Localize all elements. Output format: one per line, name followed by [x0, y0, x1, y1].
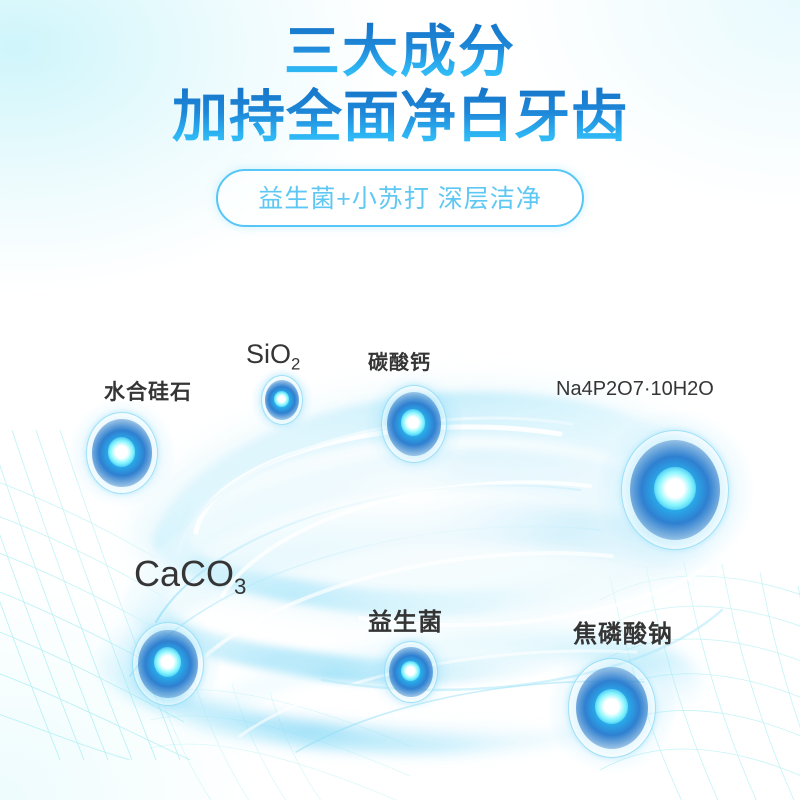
ingredient-orb-silicon-dioxide [261, 375, 303, 425]
orb-body [138, 630, 197, 699]
orb-body [576, 667, 648, 749]
orb-core [654, 467, 695, 510]
orb-core [108, 437, 135, 467]
ingredient-poster: 三大成分 加持全面净白牙齿 益生菌+小苏打 深层洁净 水合硅石 SiO2 碳酸钙… [0, 0, 800, 800]
ingredient-label-sodium-pyrophosphate-formula: Na4P2O7·10H2O [556, 378, 714, 401]
wireframe-mesh-bottom [150, 680, 410, 800]
orb-ring [568, 658, 656, 758]
subtitle-pill-wrapper: 益生菌+小苏打 深层洁净 [0, 169, 800, 227]
orb-ring [261, 375, 303, 425]
ingredient-label-probiotics: 益生菌 [368, 602, 443, 637]
formula-subscript: 2 [291, 354, 300, 373]
ingredient-orb-caco3 [132, 622, 204, 706]
ingredient-label-sodium-pyrophosphate: 焦磷酸钠 [573, 614, 673, 649]
orb-glow [116, 604, 220, 725]
wireframe-mesh-right [600, 560, 800, 800]
ingredient-orb-calcium-carbonate [381, 385, 447, 463]
orb-ring [381, 385, 447, 463]
ingredient-label-silicon-dioxide: SiO2 [246, 339, 300, 374]
subtitle-pill: 益生菌+小苏打 深层洁净 [216, 169, 584, 227]
ingredient-label-hydrated-silica: 水合硅石 [104, 376, 192, 406]
orb-core [401, 409, 425, 436]
formula-main: CaCO [134, 553, 234, 594]
page-title-line-2: 加持全面净白牙齿 [0, 87, 800, 146]
ingredient-orb-sodium-pyrophosphate [568, 658, 656, 758]
orb-core [154, 647, 181, 677]
orb-ring [384, 641, 438, 703]
orb-body [630, 440, 721, 541]
orb-body [265, 380, 299, 420]
orb-ring [86, 412, 158, 494]
orb-core [595, 689, 628, 724]
poster-header: 三大成分 加持全面净白牙齿 益生菌+小苏打 深层洁净 [0, 0, 800, 227]
formula-subscript: 3 [234, 574, 246, 599]
ingredient-orb-probiotics [384, 641, 438, 703]
orb-core [401, 661, 419, 681]
orb-glow [252, 364, 312, 436]
orb-body [92, 419, 151, 486]
page-title-line-1: 三大成分 [0, 22, 800, 81]
orb-glow [549, 636, 676, 780]
ingredient-orb-sodium-pyrophosphate-formula [621, 430, 729, 550]
formula-main: SiO [246, 339, 291, 369]
ingredient-label-calcium-carbonate: 碳酸钙 [368, 346, 431, 375]
ingredient-label-caco3-formula: CaCO3 [134, 553, 246, 600]
orb-body [389, 647, 432, 697]
ingredient-orb-hydrated-silica [86, 412, 158, 494]
orb-glow [597, 404, 753, 577]
orb-glow [372, 627, 450, 716]
orb-core [274, 391, 288, 407]
orb-glow [366, 368, 461, 480]
orb-ring [132, 622, 204, 706]
orb-body [387, 392, 441, 456]
orb-ring [621, 430, 729, 550]
orb-glow [70, 394, 174, 512]
